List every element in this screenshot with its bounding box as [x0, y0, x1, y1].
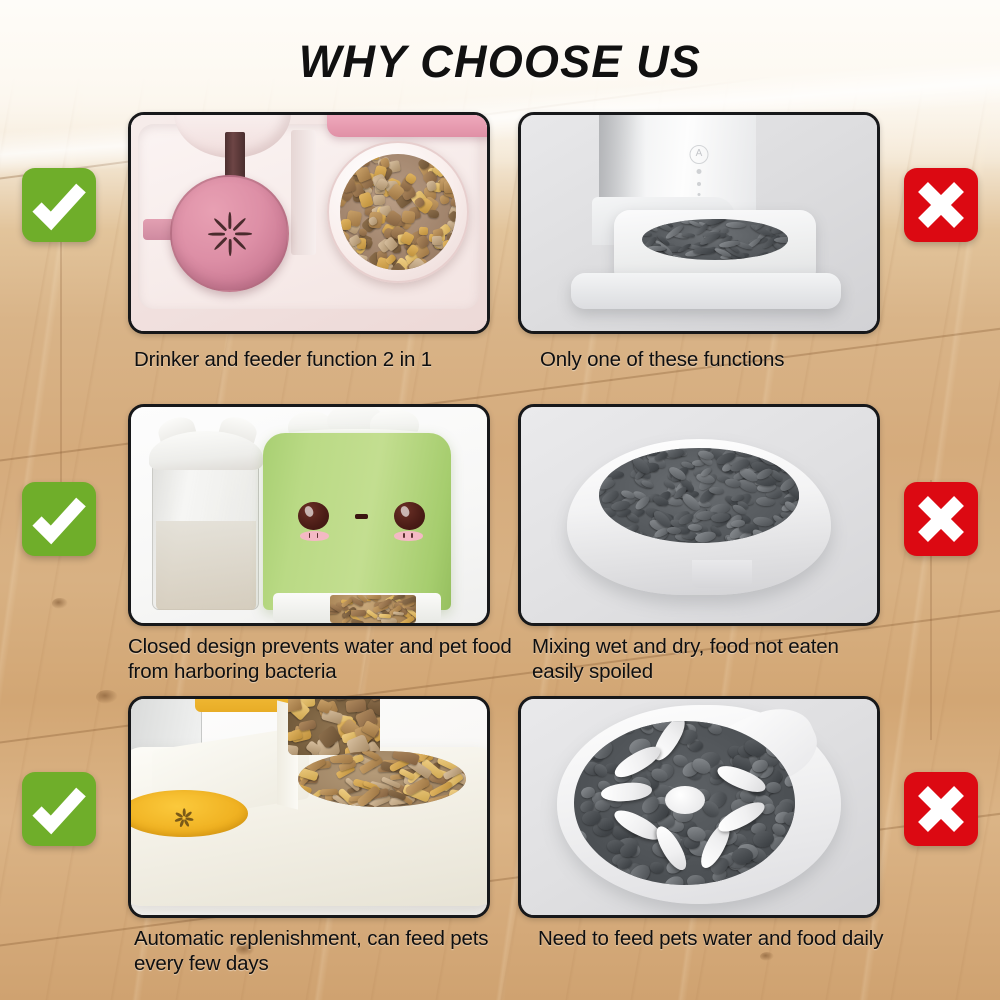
kibble-piece [732, 848, 753, 864]
slow-feeder-bowl-photo [521, 699, 877, 915]
check-icon [22, 772, 96, 846]
kibble-piece [406, 606, 415, 610]
cream-gravity-feeder-photo [131, 699, 487, 915]
plain-white-bowl-photo [521, 407, 877, 623]
kibble-piece [351, 610, 366, 616]
con-caption-row1: Only one of these functions [540, 347, 920, 372]
kibble-piece [687, 875, 705, 885]
kibble-piece [695, 530, 717, 543]
kibble-piece [649, 861, 665, 874]
con-image-panel-row3 [518, 696, 880, 918]
con-image-panel-row2 [518, 404, 880, 626]
kibble-piece [401, 211, 415, 224]
kibble-piece [288, 744, 298, 755]
pro-caption-row1: Drinker and feeder function 2 in 1 [134, 347, 514, 372]
kibble-piece [726, 222, 746, 228]
kibble-piece [320, 789, 338, 795]
infographic-root: WHY CHOOSE US [0, 0, 1000, 1000]
kibble-piece [419, 227, 428, 235]
kibble-piece [330, 755, 353, 763]
kibble-piece [432, 236, 442, 245]
white-automatic-feeder-photo: A [521, 115, 877, 331]
kibble-piece [755, 497, 774, 507]
cross-icon [904, 772, 978, 846]
kibble-piece [335, 696, 348, 700]
check-icon [22, 168, 96, 242]
kibble-piece [427, 210, 439, 220]
kibble-piece [667, 527, 681, 535]
kibble-piece [298, 751, 311, 756]
kibble-piece [784, 812, 795, 826]
kibble-piece [666, 448, 684, 459]
kibble-piece [731, 519, 745, 527]
kibble-piece [381, 618, 397, 623]
kibble-piece [341, 218, 351, 229]
pro-image-panel-row3 [128, 696, 490, 918]
water-bowl [170, 175, 289, 292]
pro-image-panel-row2 [128, 404, 490, 626]
con-caption-row3: Need to feed pets water and food daily [538, 926, 894, 951]
kibble-piece [432, 803, 454, 807]
pro-image-panel-row1 [128, 112, 490, 334]
kibble-piece [642, 232, 652, 237]
cross-icon [904, 482, 978, 556]
kibble-piece [367, 595, 381, 599]
con-image-panel-row1: A [518, 112, 880, 334]
kibble-piece [455, 756, 465, 765]
kibble-piece [775, 848, 795, 865]
comparison-grid: A Drinker and feeder function 2 in 1 Onl… [0, 0, 1000, 1000]
check-icon [22, 482, 96, 556]
food-bowl [327, 141, 469, 284]
pro-caption-row2: Closed design prevents water and pet foo… [128, 634, 524, 684]
kibble-piece [661, 873, 686, 885]
kibble-piece [442, 238, 455, 250]
kibble-piece [595, 800, 610, 812]
kibble-piece [369, 154, 379, 160]
kibble-piece [373, 194, 385, 205]
pink-2in1-pet-feeder-photo [131, 115, 487, 331]
pro-caption-row3: Automatic replenishment, can feed pets e… [134, 926, 526, 976]
con-caption-row2: Mixing wet and dry, food not eaten easil… [532, 634, 894, 684]
kibble-piece [393, 611, 404, 615]
green-cat-dispenser-photo [131, 407, 487, 623]
cross-icon [904, 168, 978, 242]
page-title: WHY CHOOSE US [0, 36, 1000, 88]
